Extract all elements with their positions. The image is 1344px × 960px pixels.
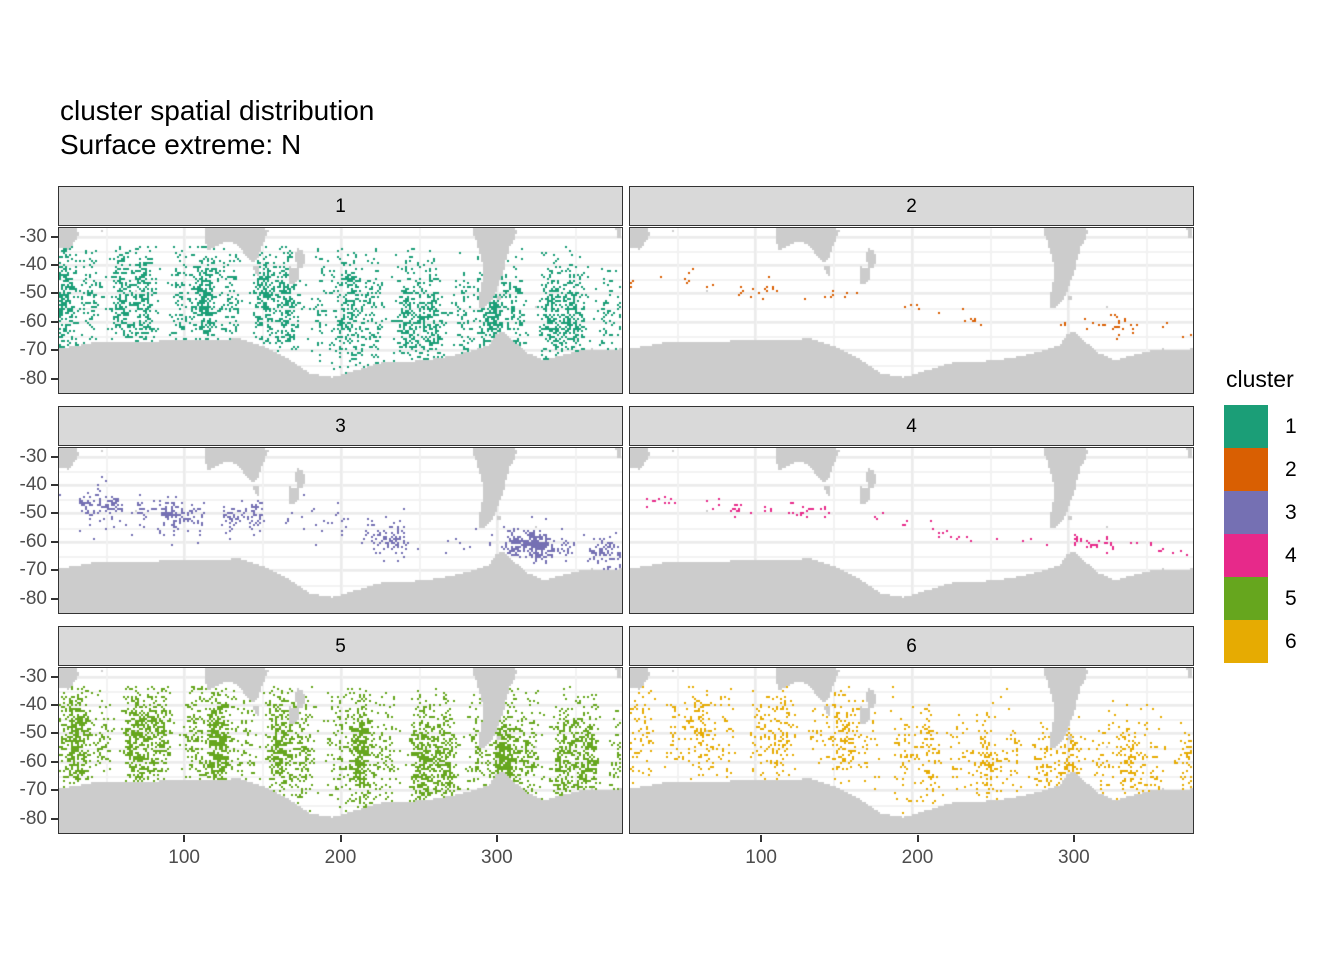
y-axis-tick-mark: [51, 378, 58, 380]
legend: cluster 123456: [1224, 368, 1344, 663]
x-axis-tick-mark: [183, 835, 185, 842]
legend-label: 5: [1285, 588, 1297, 609]
facet-strip-4: 4: [629, 406, 1194, 446]
facet-panel-6: 6: [629, 626, 1194, 834]
y-axis-tick-label: -40: [20, 695, 47, 714]
panel-inner: [630, 448, 1193, 613]
y-axis-tick-label: -50: [20, 723, 47, 742]
y-axis-tick-mark: [51, 292, 58, 294]
facet-strip-label: 3: [335, 417, 346, 436]
legend-item-2[interactable]: 2: [1224, 448, 1344, 491]
plot-panel-2: [629, 227, 1194, 394]
x-axis-tick-label: 300: [481, 848, 513, 867]
plot-panel-4: [629, 447, 1194, 614]
facet-panel-2: 2: [629, 186, 1194, 394]
panel-inner: [630, 668, 1193, 833]
x-axis-tick-mark: [496, 835, 498, 842]
y-axis-tick-label: -30: [20, 227, 47, 246]
legend-label: 2: [1285, 459, 1297, 480]
x-axis-tick-label: 300: [1058, 848, 1090, 867]
panel-inner: [59, 448, 622, 613]
legend-label: 6: [1285, 631, 1297, 652]
y-axis-tick-mark: [51, 704, 58, 706]
cluster-points-layer-2: [630, 228, 1193, 393]
y-axis-tick-mark: [51, 732, 58, 734]
y-axis-tick-mark: [51, 321, 58, 323]
y-axis-tick-label: -60: [20, 752, 47, 771]
facet-panel-4: 4: [629, 406, 1194, 614]
legend-item-4[interactable]: 4: [1224, 534, 1344, 577]
y-axis-tick-mark: [51, 541, 58, 543]
facet-strip-label: 1: [335, 197, 346, 216]
x-axis-tick-mark: [340, 835, 342, 842]
y-axis-tick-label: -30: [20, 667, 47, 686]
y-axis-tick-label: -80: [20, 369, 47, 388]
x-axis-tick-label: 200: [325, 848, 357, 867]
y-axis-tick-label: -40: [20, 475, 47, 494]
y-axis-tick-mark: [51, 456, 58, 458]
facet-strip-6: 6: [629, 626, 1194, 666]
y-axis-tick-mark: [51, 484, 58, 486]
y-axis-tick-mark: [51, 349, 58, 351]
y-axis-tick-mark: [51, 569, 58, 571]
y-axis-tick-label: -60: [20, 312, 47, 331]
cluster-points-layer-1: [59, 228, 622, 393]
plot-panel-5: [58, 667, 623, 834]
facet-strip-label: 2: [906, 197, 917, 216]
legend-swatch-1: [1224, 405, 1268, 448]
y-axis-tick-label: -80: [20, 589, 47, 608]
facet-grid: 123456: [58, 186, 1194, 834]
facet-panel-1: 1: [58, 186, 623, 394]
x-axis-tick-mark: [760, 835, 762, 842]
facet-strip-label: 6: [906, 637, 917, 656]
legend-item-1[interactable]: 1: [1224, 405, 1344, 448]
y-axis-tick-label: -50: [20, 503, 47, 522]
plot-title: cluster spatial distribution Surface ext…: [60, 94, 374, 162]
legend-item-3[interactable]: 3: [1224, 491, 1344, 534]
facet-strip-label: 4: [906, 417, 917, 436]
legend-item-5[interactable]: 5: [1224, 577, 1344, 620]
panel-inner: [630, 228, 1193, 393]
legend-item-6[interactable]: 6: [1224, 620, 1344, 663]
legend-swatch-4: [1224, 534, 1268, 577]
plot-root: cluster spatial distribution Surface ext…: [0, 0, 1344, 960]
legend-label: 1: [1285, 416, 1297, 437]
y-axis-tick-label: -70: [20, 780, 47, 799]
legend-label: 3: [1285, 502, 1297, 523]
y-axis-tick-label: -80: [20, 809, 47, 828]
title-line-2: Surface extreme: N: [60, 128, 374, 162]
x-axis-tick-label: 100: [168, 848, 200, 867]
y-axis-tick-label: -70: [20, 340, 47, 359]
panel-inner: [59, 228, 622, 393]
facet-strip-5: 5: [58, 626, 623, 666]
y-axis-tick-mark: [51, 676, 58, 678]
legend-keys: 123456: [1224, 405, 1344, 663]
legend-swatch-5: [1224, 577, 1268, 620]
y-axis-tick-mark: [51, 789, 58, 791]
cluster-points-layer-6: [630, 668, 1193, 833]
legend-swatch-6: [1224, 620, 1268, 663]
y-axis-tick-mark: [51, 236, 58, 238]
cluster-points-layer-4: [630, 448, 1193, 613]
y-axis-tick-label: -60: [20, 532, 47, 551]
x-axis-tick-label: 100: [745, 848, 777, 867]
facet-strip-1: 1: [58, 186, 623, 226]
plot-panel-3: [58, 447, 623, 614]
cluster-points-layer-3: [59, 448, 622, 613]
y-axis-tick-label: -30: [20, 447, 47, 466]
y-axis-tick-label: -50: [20, 283, 47, 302]
y-axis-tick-mark: [51, 761, 58, 763]
y-axis-tick-label: -40: [20, 255, 47, 274]
facet-panel-5: 5: [58, 626, 623, 834]
x-axis-tick-label: 200: [902, 848, 934, 867]
y-axis-tick-label: -70: [20, 560, 47, 579]
facet-panel-3: 3: [58, 406, 623, 614]
facet-strip-3: 3: [58, 406, 623, 446]
facet-strip-2: 2: [629, 186, 1194, 226]
cluster-points-layer-5: [59, 668, 622, 833]
plot-panel-1: [58, 227, 623, 394]
x-axis-tick-mark: [917, 835, 919, 842]
legend-swatch-2: [1224, 448, 1268, 491]
facet-strip-label: 5: [335, 637, 346, 656]
y-axis-tick-mark: [51, 598, 58, 600]
x-axis-tick-mark: [1073, 835, 1075, 842]
title-line-1: cluster spatial distribution: [60, 94, 374, 128]
y-axis-tick-mark: [51, 512, 58, 514]
legend-title: cluster: [1226, 368, 1344, 391]
y-axis-tick-mark: [51, 264, 58, 266]
panel-inner: [59, 668, 622, 833]
legend-swatch-3: [1224, 491, 1268, 534]
legend-label: 4: [1285, 545, 1297, 566]
plot-panel-6: [629, 667, 1194, 834]
y-axis-tick-mark: [51, 818, 58, 820]
